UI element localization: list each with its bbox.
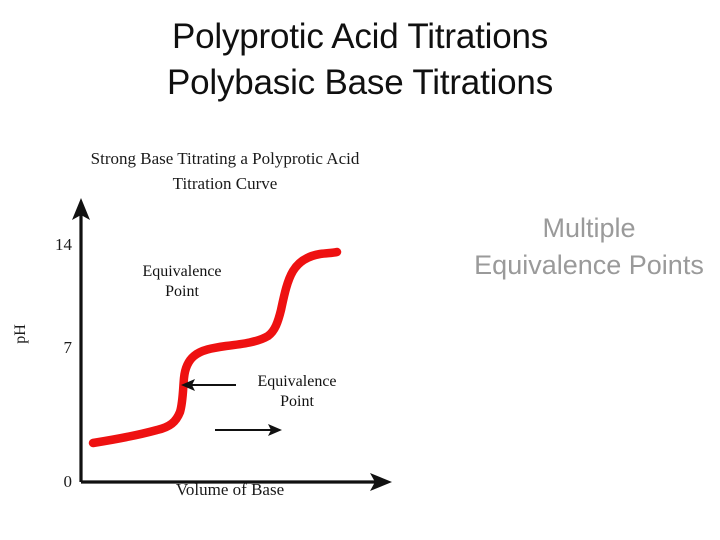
- annotation-upper-arrow-icon: [215, 424, 282, 436]
- annotation-equivalence-point-lower: Equivalence Point: [232, 372, 362, 412]
- slide-canvas: Polyprotic Acid Titrations Polybasic Bas…: [0, 0, 720, 540]
- side-caption-line-2: Equivalence Points: [460, 247, 718, 284]
- annotation-lower-line-2: Point: [232, 392, 362, 412]
- y-tick-label-0: 0: [42, 472, 72, 492]
- page-title-line-2: Polybasic Base Titrations: [0, 60, 720, 106]
- y-tick-label-7: 7: [42, 338, 72, 358]
- y-tick-label-14: 14: [42, 235, 72, 255]
- annotation-upper-line-2: Point: [112, 282, 252, 302]
- side-caption-line-1: Multiple: [542, 213, 635, 243]
- page-title-line-1: Polyprotic Acid Titrations: [172, 17, 548, 56]
- annotation-lower-line-1: Equivalence: [257, 373, 336, 390]
- annotation-equivalence-point-upper: Equivalence Point: [112, 262, 252, 302]
- annotation-lower-arrow-icon: [181, 379, 236, 391]
- titration-chart-figure: Strong Base Titrating a Polyprotic Acid …: [0, 140, 440, 530]
- y-axis-title: pH: [12, 309, 30, 359]
- x-axis-title: Volume of Base: [100, 480, 360, 500]
- page-title: Polyprotic Acid Titrations Polybasic Bas…: [0, 14, 720, 106]
- side-caption: Multiple Equivalence Points: [460, 210, 718, 284]
- y-axis: [72, 198, 90, 482]
- annotation-upper-line-1: Equivalence: [142, 263, 221, 280]
